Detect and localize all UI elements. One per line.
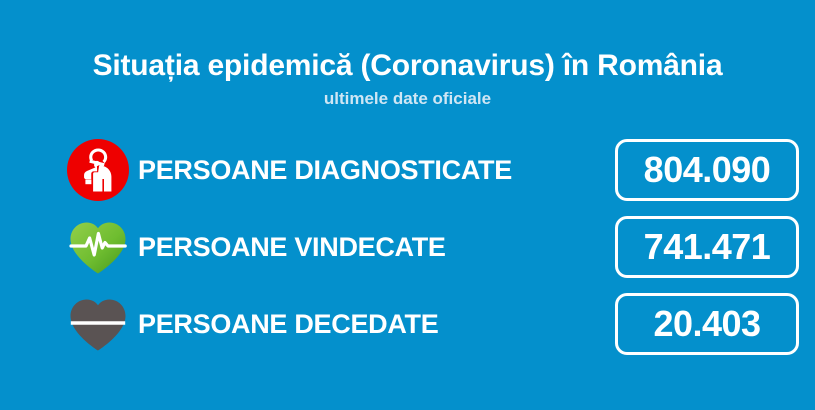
page-title: Situația epidemică (Coronavirus) în Româ… — [0, 48, 815, 84]
sick-person-circle-icon — [66, 136, 138, 204]
stat-value-recovered: 741.471 — [644, 228, 771, 266]
header: Situația epidemică (Coronavirus) în Româ… — [0, 48, 815, 110]
stat-value-diagnosed: 804.090 — [644, 151, 771, 189]
heart-flatline-icon — [66, 290, 138, 358]
stat-label-cell-deceased: PERSOANE DECEDATE — [138, 309, 615, 339]
value-box-diagnosed: 804.090 — [615, 139, 799, 201]
covid-stats-infographic: Situația epidemică (Coronavirus) în Româ… — [0, 0, 815, 410]
stats-list: PERSOANE DIAGNOSTICATE 804.090 — [0, 131, 815, 362]
value-box-recovered: 741.471 — [615, 216, 799, 278]
stat-row-deceased: PERSOANE DECEDATE 20.403 — [0, 285, 815, 362]
stat-value-cell-deceased: 20.403 — [615, 293, 815, 355]
stat-value-cell-diagnosed: 804.090 — [615, 139, 815, 201]
value-box-deceased: 20.403 — [615, 293, 799, 355]
stat-label-cell-diagnosed: PERSOANE DIAGNOSTICATE — [138, 155, 615, 185]
stat-label-diagnosed: PERSOANE DIAGNOSTICATE — [138, 155, 512, 185]
page-subtitle: ultimele date oficiale — [0, 88, 815, 110]
stat-label-cell-recovered: PERSOANE VINDECATE — [138, 232, 615, 262]
stat-row-recovered: PERSOANE VINDECATE 741.471 — [0, 208, 815, 285]
stat-row-diagnosed: PERSOANE DIAGNOSTICATE 804.090 — [0, 131, 815, 208]
stat-value-cell-recovered: 741.471 — [615, 216, 815, 278]
heart-pulse-icon — [66, 213, 138, 281]
stat-label-deceased: PERSOANE DECEDATE — [138, 309, 438, 339]
stat-value-deceased: 20.403 — [653, 305, 760, 343]
stat-label-recovered: PERSOANE VINDECATE — [138, 232, 446, 262]
